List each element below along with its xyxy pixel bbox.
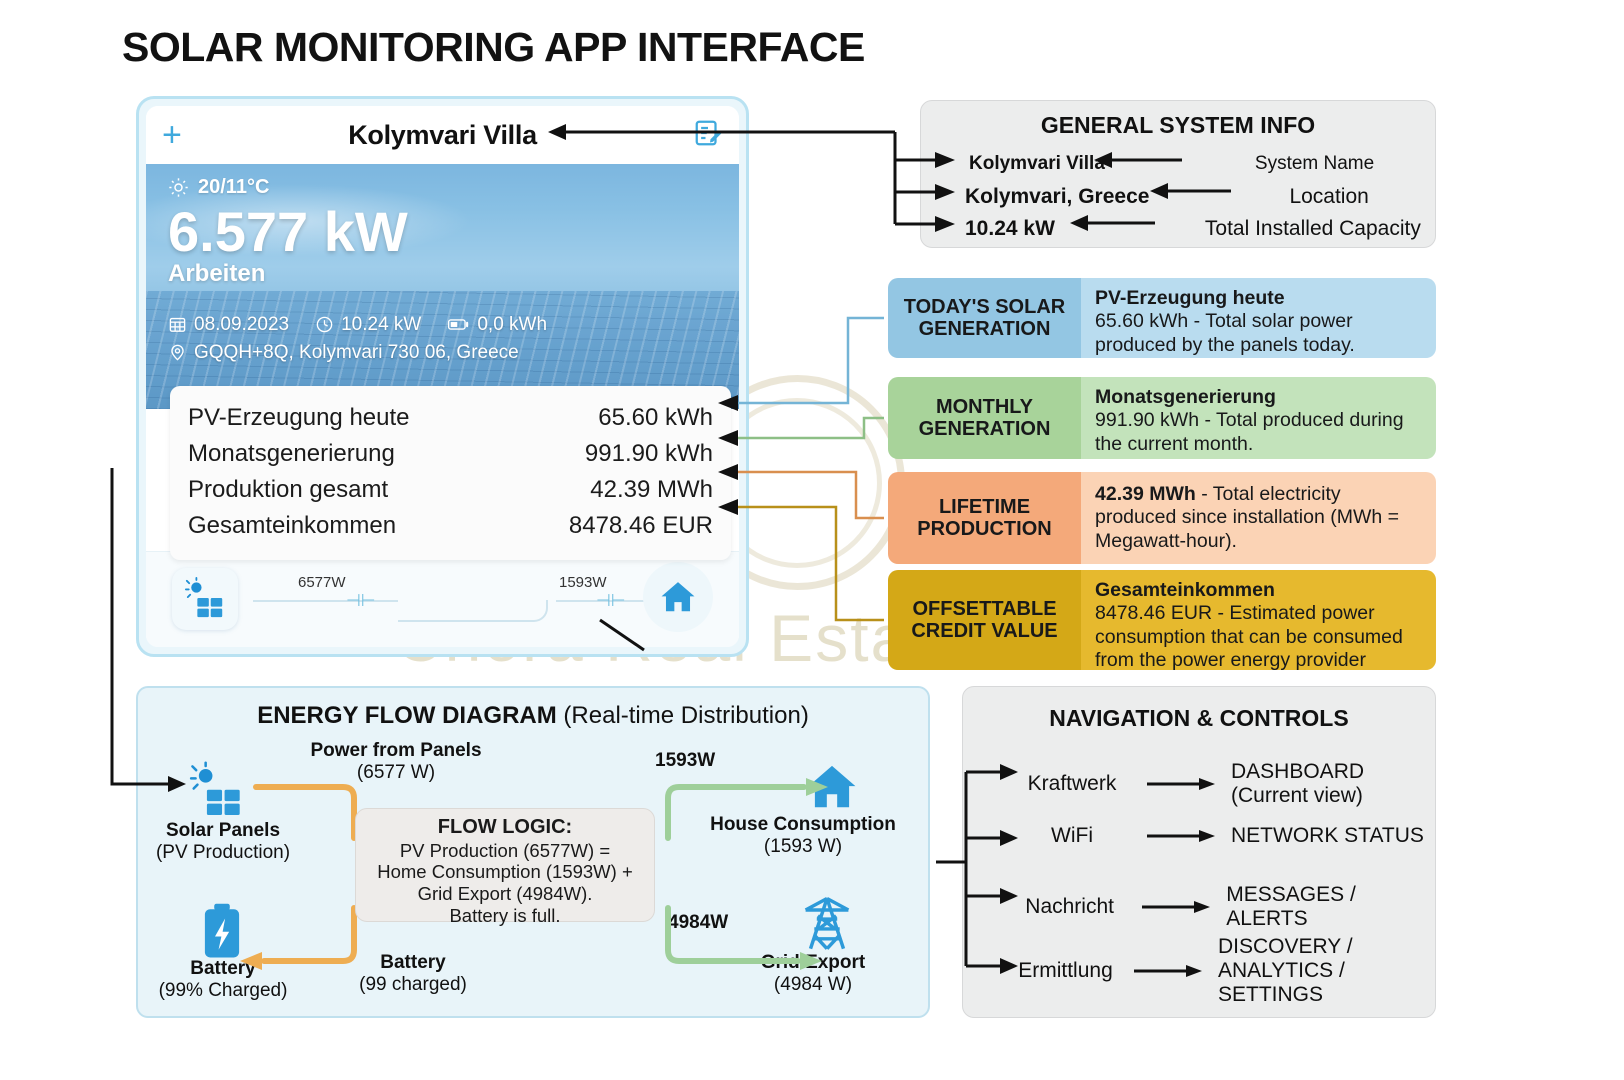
- stats-row: Monatsgenerierung 991.90 kWh: [188, 436, 713, 472]
- metric-key: LIFETIME PRODUCTION: [888, 472, 1081, 564]
- house-icon: [658, 578, 698, 616]
- flow-logic-line1: PV Production (6577W) =: [356, 840, 654, 862]
- stat-value-amount: 8478.46: [569, 512, 656, 539]
- gsi-value: Kolymvari Villa: [969, 153, 1105, 175]
- battery-item: 0,0 kWh: [447, 314, 547, 336]
- nav-value-ermittlung: DISCOVERY / ANALYTICS / SETTINGS: [1218, 935, 1435, 1007]
- gsi-desc: Location: [1289, 185, 1368, 209]
- gsi-row: 10.24 kW Total Installed Capacity: [965, 217, 1421, 241]
- flow-logic-title: FLOW LOGIC:: [356, 816, 654, 840]
- gsi-row: Kolymvari, Greece Location: [965, 185, 1369, 209]
- metric-key: MONTHLY GENERATION: [888, 377, 1081, 459]
- metric-key: TODAY'S SOLAR GENERATION: [888, 278, 1081, 358]
- flow-label-house: 1593W: [559, 574, 607, 591]
- phone-mockup: + Kolymvari Villa: [136, 96, 749, 657]
- meta-row-primary: 08.09.2023 10.24 kW: [168, 314, 717, 336]
- stat-label: Gesamteinkommen: [188, 512, 396, 540]
- navigation-title: NAVIGATION & CONTROLS: [963, 705, 1435, 732]
- stats-row: Gesamteinkommen 8478.46 EUR: [188, 508, 713, 544]
- gsi-row: Kolymvari Villa System Name: [969, 153, 1374, 175]
- general-system-info-title: GENERAL SYSTEM INFO: [921, 112, 1435, 139]
- capacity-item: 10.24 kW: [315, 314, 421, 336]
- page-title: SOLAR MONITORING APP INTERFACE: [122, 24, 865, 71]
- weather-temps: 20/11°C: [198, 176, 269, 199]
- stat-label: PV-Erzeugung heute: [188, 404, 410, 432]
- calendar-icon: [168, 315, 187, 334]
- sun-icon: [168, 177, 189, 198]
- stats-row: Produktion gesamt 42.39 MWh: [188, 472, 713, 508]
- phone-flow-strip: 6577W ⊣⊢ 1593W ⊣⊢: [146, 551, 739, 647]
- arrow-right-icon: [1147, 828, 1217, 844]
- gsi-value: 10.24 kW: [965, 217, 1055, 241]
- nav-row-ermittlung[interactable]: Ermittlung DISCOVERY / ANALYTICS / SETTI…: [997, 935, 1435, 1007]
- nav-key-kraftwerk: Kraftwerk: [997, 772, 1147, 796]
- stats-row: PV-Erzeugung heute 65.60 kWh: [188, 400, 713, 436]
- general-system-info-panel: GENERAL SYSTEM INFO Kolymvari Villa Syst…: [920, 100, 1436, 248]
- metric-body-today: PV-Erzeugung heute 65.60 kWh - Total sol…: [1081, 278, 1436, 358]
- nav-value-nachricht: MESSAGES / ALERTS: [1226, 883, 1435, 931]
- nav-value-sub: (Current view): [1231, 784, 1363, 807]
- metric-card-today: TODAY'S SOLAR GENERATION PV-Erzeugung he…: [888, 278, 1436, 358]
- arrow-right-icon: [1147, 776, 1217, 792]
- flow-logic-line2: Home Consumption (1593W) +: [356, 861, 654, 883]
- stat-label: Produktion gesamt: [188, 476, 388, 504]
- metric-body-offsettable: Gesamteinkommen 8478.46 EUR - Estimated …: [1081, 570, 1436, 670]
- date-item: 08.09.2023: [168, 314, 289, 336]
- battery-energy-value: 0,0 kWh: [477, 314, 547, 336]
- metric-key: OFFSETTABLE CREDIT VALUE: [888, 570, 1081, 670]
- nav-row-wifi[interactable]: WiFi NETWORK STATUS: [997, 824, 1424, 848]
- plug-icon-right: ⊣⊢: [596, 591, 626, 611]
- hero-banner: 20/11°C 6.577 kW Arbeiten 08.09.2023: [146, 164, 739, 409]
- system-status: Arbeiten: [168, 260, 717, 288]
- app-title: Kolymvari Villa: [146, 120, 739, 151]
- gsi-desc: Total Installed Capacity: [1205, 217, 1421, 241]
- gsi-value: Kolymvari, Greece: [965, 185, 1149, 209]
- battery-icon: [447, 315, 470, 334]
- edit-icon[interactable]: [693, 118, 723, 148]
- metric-description: 65.60 kWh - Total solar power produced b…: [1095, 310, 1355, 355]
- location-pin-icon: [168, 343, 187, 362]
- metric-title: PV-Erzeugung heute: [1095, 287, 1285, 309]
- gauge-icon: [315, 315, 334, 334]
- nav-key-ermittlung: Ermittlung: [997, 959, 1134, 983]
- house-tile[interactable]: [643, 562, 713, 632]
- date-value: 08.09.2023: [194, 314, 289, 336]
- nav-value-kraftwerk: DASHBOARD (Current view): [1231, 760, 1364, 808]
- navigation-controls-panel: NAVIGATION & CONTROLS Kraftwerk DASHBOAR…: [962, 686, 1436, 1018]
- stat-value-unit: EUR: [662, 512, 713, 539]
- arrow-right-icon: [1134, 963, 1204, 979]
- metric-title: Monatsgenerierung: [1095, 386, 1276, 408]
- metric-body-monthly: Monatsgenerierung 991.90 kWh - Total pro…: [1081, 377, 1436, 459]
- flow-logic-line3: Grid Export (4984W).: [356, 883, 654, 905]
- nav-value-sub: ANALYTICS / SETTINGS: [1218, 959, 1345, 1006]
- current-power-value: 6.577 kW: [168, 203, 717, 262]
- address-value: GQQH+8Q, Kolymvari 730 06, Greece: [194, 342, 519, 364]
- gsi-desc: System Name: [1255, 153, 1374, 175]
- capacity-value: 10.24 kW: [341, 314, 421, 336]
- metric-card-lifetime: LIFETIME PRODUCTION 42.39 MWh - Total el…: [888, 472, 1436, 564]
- arrow-right-icon: [1142, 899, 1212, 915]
- metric-title: Gesamteinkommen: [1095, 579, 1275, 601]
- metric-card-monthly: MONTHLY GENERATION Monatsgenerierung 991…: [888, 377, 1436, 459]
- stat-label: Monatsgenerierung: [188, 440, 395, 468]
- flow-logic-line4: Battery is full.: [356, 905, 654, 927]
- flow-line-bend: [398, 600, 548, 622]
- stat-value: 8478.46 EUR: [569, 512, 713, 540]
- nav-key-wifi: WiFi: [997, 824, 1147, 848]
- solar-panel-icon: [182, 577, 228, 621]
- metric-card-offsettable: OFFSETTABLE CREDIT VALUE Gesamteinkommen…: [888, 570, 1436, 670]
- nav-row-kraftwerk[interactable]: Kraftwerk DASHBOARD (Current view): [997, 760, 1364, 808]
- solar-panel-tile[interactable]: [172, 568, 238, 630]
- flow-label-panels: 6577W: [298, 574, 346, 591]
- stat-value: 991.90 kWh: [585, 440, 713, 468]
- app-top-bar: + Kolymvari Villa: [146, 106, 739, 164]
- nav-key-nachricht: Nachricht: [997, 895, 1142, 919]
- stat-value: 65.60 kWh: [598, 404, 713, 432]
- nav-row-nachricht[interactable]: Nachricht MESSAGES / ALERTS: [997, 883, 1435, 931]
- stats-card: PV-Erzeugung heute 65.60 kWh Monatsgener…: [170, 386, 731, 560]
- metric-bold-lead: 42.39 MWh: [1095, 483, 1196, 505]
- meta-row-address: GQQH+8Q, Kolymvari 730 06, Greece: [168, 342, 717, 364]
- metric-description: 991.90 kWh - Total produced during the c…: [1095, 409, 1404, 454]
- nav-value-wifi: NETWORK STATUS: [1231, 824, 1424, 848]
- stat-value: 42.39 MWh: [590, 476, 713, 504]
- nav-value-main: DASHBOARD: [1231, 760, 1364, 783]
- flow-line-panels: [253, 600, 398, 602]
- nav-value-main: DISCOVERY /: [1218, 935, 1353, 958]
- metric-description: 8478.46 EUR - Estimated power consumptio…: [1095, 602, 1403, 670]
- metric-body-lifetime: 42.39 MWh - Total electricity produced s…: [1081, 472, 1436, 564]
- weather-readout: 20/11°C: [168, 176, 717, 199]
- flow-logic-box: FLOW LOGIC: PV Production (6577W) = Home…: [355, 808, 655, 922]
- plug-icon-left: ⊣⊢: [346, 591, 376, 611]
